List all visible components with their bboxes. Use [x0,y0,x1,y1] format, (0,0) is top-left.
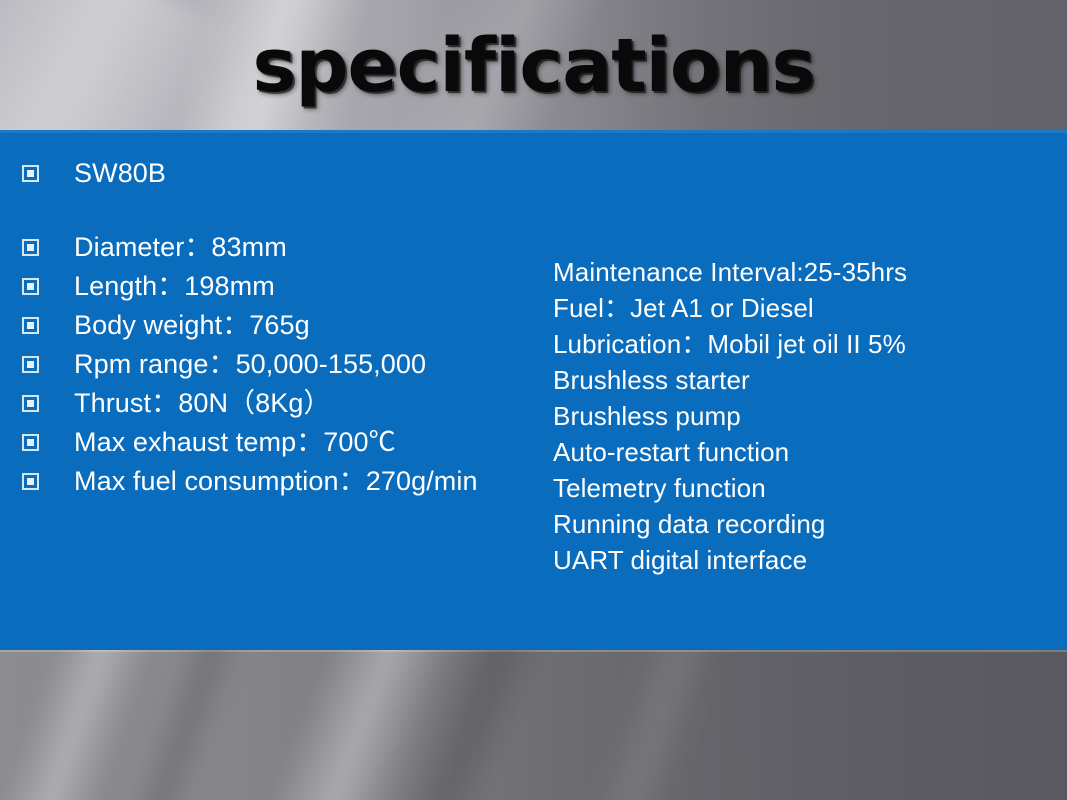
list-item-label: Rpm range：50,000-155,000 [74,345,426,384]
list-item[interactable]: Diameter：83mm [22,228,542,267]
footer-streak-4 [382,650,557,800]
square-in-square-bullet-icon [22,317,39,334]
list-item: Running data recording [553,506,1053,542]
list-item: Brushless starter [553,362,1053,398]
list-item-label: Thrust：80N（8Kg） [74,384,331,423]
spec-bullet-list: SW80B Diameter：83mm Length：198mm Body we… [22,154,542,501]
footer-top-highlight [0,650,1067,652]
list-item: Fuel：Jet A1 or Diesel [553,290,1053,326]
square-in-square-bullet-icon [22,356,39,373]
list-item: Maintenance Interval:25-35hrs [553,254,1053,290]
presentation-slide: specifications SW80B Diameter：83mm Lengt… [0,0,1067,800]
feature-list: Maintenance Interval:25-35hrs Fuel：Jet A… [553,254,1053,578]
content-panel: SW80B Diameter：83mm Length：198mm Body we… [0,130,1067,650]
square-in-square-bullet-icon [22,434,39,451]
square-in-square-bullet-icon [22,278,39,295]
list-item[interactable]: Body weight：765g [22,306,542,345]
list-item-label: SW80B [74,154,166,193]
list-item[interactable]: Max exhaust temp：700℃ [22,423,542,462]
list-item[interactable]: SW80B [22,154,542,193]
list-item: Brushless pump [553,398,1053,434]
footer-streak-5 [578,650,731,800]
list-item: Auto-restart function [553,434,1053,470]
panel-top-highlight [0,130,1067,133]
list-item[interactable]: Length：198mm [22,267,542,306]
list-item[interactable]: Rpm range：50,000-155,000 [22,345,542,384]
square-in-square-bullet-icon [22,239,39,256]
list-item-label: Body weight：765g [74,306,310,345]
square-in-square-bullet-icon [22,473,39,490]
footer-streak-2 [111,650,259,800]
footer-streak-3 [254,650,466,800]
list-item: UART digital interface [553,542,1053,578]
footer-streak-1 [0,650,163,800]
list-item: Lubrication：Mobil jet oil II 5% [553,326,1053,362]
list-item-label: Max exhaust temp：700℃ [74,423,396,462]
list-item-label: Length：198mm [74,267,275,306]
list-item-label: Diameter：83mm [74,228,287,267]
list-item[interactable]: Thrust：80N（8Kg） [22,384,542,423]
square-in-square-bullet-icon [22,165,39,182]
page-title: specifications [0,18,1067,114]
list-item: Telemetry function [553,470,1053,506]
list-item[interactable]: Max fuel consumption：270g/min [22,462,542,501]
list-item-label: Max fuel consumption：270g/min [74,462,478,501]
footer-band [0,650,1067,800]
square-in-square-bullet-icon [22,395,39,412]
